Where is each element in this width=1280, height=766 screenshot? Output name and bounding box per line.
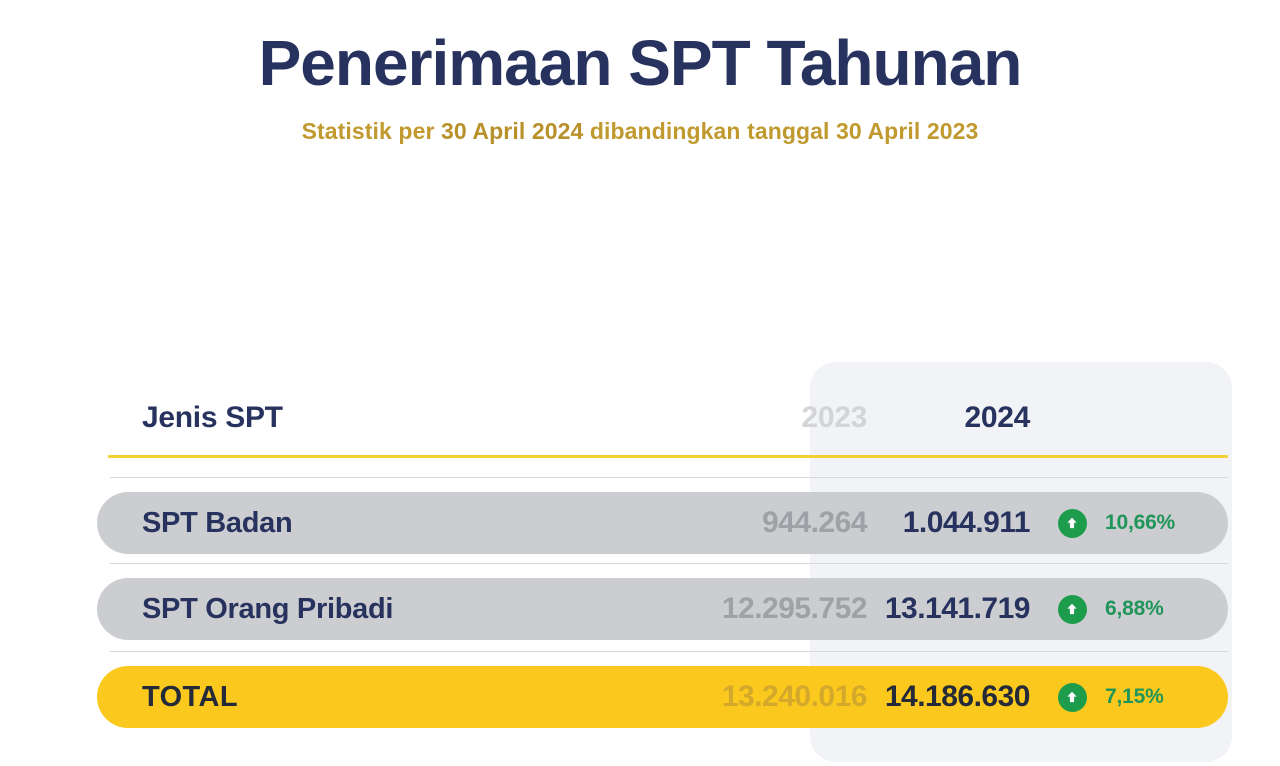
row-change-wrap: 6,88%: [1105, 597, 1217, 621]
row-label: TOTAL: [97, 681, 238, 714]
row-trend-wrap: [1052, 595, 1092, 624]
table-row[interactable]: SPT Orang Pribadi 12.295.752 13.141.719 …: [97, 578, 1228, 640]
row-value-2024: 13.141.719: [885, 592, 1030, 625]
row-change-percent: 6,88%: [1105, 597, 1164, 620]
column-header-2024-wrap: 2024: [797, 401, 1030, 435]
column-header-2024: 2024: [964, 401, 1030, 434]
row-label: SPT Orang Pribadi: [97, 593, 393, 626]
table-row[interactable]: SPT Badan 944.264 1.044.911 10,66%: [97, 492, 1228, 554]
column-header-jenis-spt: Jenis SPT: [97, 401, 283, 435]
row-change-wrap: 10,66%: [1105, 511, 1217, 535]
row-separator: [110, 651, 1228, 652]
row-label: SPT Badan: [97, 507, 292, 540]
row-cell-2024-wrap: 13.141.719: [797, 592, 1030, 626]
table-header-row: Jenis SPT 2023 2024: [97, 392, 1228, 444]
row-change-percent: 10,66%: [1105, 511, 1175, 534]
spt-comparison-table: Jenis SPT 2023 2024 SPT Badan 944.264 1.…: [0, 0, 1280, 766]
row-cell-2024-wrap: 14.186.630: [797, 680, 1030, 714]
row-value-2024: 1.044.911: [903, 506, 1030, 539]
arrow-up-circle-icon: [1058, 683, 1087, 712]
row-trend-wrap: [1052, 683, 1092, 712]
row-value-2024: 14.186.630: [885, 680, 1030, 713]
table-row-total[interactable]: TOTAL 13.240.016 14.186.630 7,15%: [97, 666, 1228, 728]
row-change-wrap: 7,15%: [1105, 685, 1217, 709]
row-cell-2024-wrap: 1.044.911: [797, 506, 1030, 540]
row-change-percent: 7,15%: [1105, 685, 1164, 708]
arrow-up-circle-icon: [1058, 595, 1087, 624]
header-underline-rule: [108, 455, 1228, 458]
arrow-up-circle-icon: [1058, 509, 1087, 538]
row-separator: [110, 477, 1228, 478]
row-separator: [110, 563, 1228, 564]
row-trend-wrap: [1052, 509, 1092, 538]
